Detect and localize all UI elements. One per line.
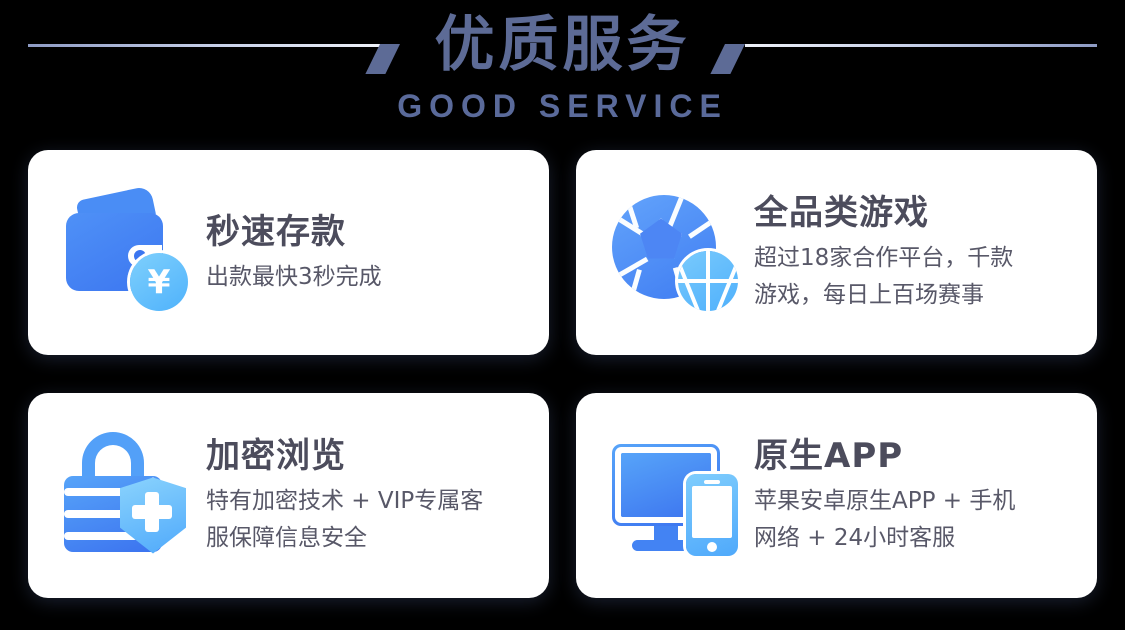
card-text-block: 加密浏览 特有加密技术 + VIP专属客 服保障信息安全 (206, 434, 535, 557)
page-header: 优质服务 GOOD SERVICE (0, 0, 1125, 148)
card-text-block: 原生APP 苹果安卓原生APP + 手机 网络 + 24小时客服 (754, 434, 1083, 557)
card-text-block: 秒速存款 出款最快3秒完成 (206, 210, 535, 296)
card-description-line: 出款最快3秒完成 (206, 259, 535, 296)
yen-symbol: ¥ (130, 253, 188, 311)
card-description: 超过18家合作平台，千款 游戏，每日上百场赛事 (754, 240, 1083, 314)
card-description-line: 特有加密技术 + VIP专属客 (206, 483, 535, 520)
wallet-yen-coin-icon: ¥ (62, 187, 194, 319)
service-card-games[interactable]: 全品类游戏 超过18家合作平台，千款 游戏，每日上百场赛事 (576, 150, 1097, 355)
service-card-grid: ¥ 秒速存款 出款最快3秒完成 (28, 150, 1097, 598)
card-title: 加密浏览 (206, 434, 535, 478)
card-title: 秒速存款 (206, 210, 535, 254)
monitor-phone-icon (610, 430, 742, 562)
phone-speaker-shape (704, 480, 720, 484)
service-card-encryption[interactable]: 加密浏览 特有加密技术 + VIP专属客 服保障信息安全 (28, 393, 549, 598)
card-title: 全品类游戏 (754, 191, 1083, 235)
lock-shield-icon (62, 430, 194, 562)
soccer-basketball-icon (610, 187, 742, 319)
card-description-line: 网络 + 24小时客服 (754, 520, 1083, 557)
service-card-native-app[interactable]: 原生APP 苹果安卓原生APP + 手机 网络 + 24小时客服 (576, 393, 1097, 598)
card-description-line: 服保障信息安全 (206, 520, 535, 557)
basketball-shape (678, 251, 738, 311)
card-description-line: 苹果安卓原生APP + 手机 (754, 483, 1083, 520)
service-card-deposit[interactable]: ¥ 秒速存款 出款最快3秒完成 (28, 150, 549, 355)
card-description: 特有加密技术 + VIP专属客 服保障信息安全 (206, 483, 535, 557)
shield-cross-icon (132, 505, 172, 519)
phone-screen-shape (692, 486, 732, 538)
card-text-block: 全品类游戏 超过18家合作平台，千款 游戏，每日上百场赛事 (754, 191, 1083, 314)
card-title: 原生APP (754, 434, 1083, 478)
card-description-line: 游戏，每日上百场赛事 (754, 277, 1083, 314)
phone-home-button-shape (707, 542, 717, 552)
page-title: 优质服务 (0, 6, 1125, 84)
card-description-line: 超过18家合作平台，千款 (754, 240, 1083, 277)
card-description: 苹果安卓原生APP + 手机 网络 + 24小时客服 (754, 483, 1083, 557)
card-description: 出款最快3秒完成 (206, 259, 535, 296)
page-subtitle: GOOD SERVICE (0, 86, 1125, 126)
title-block: 优质服务 GOOD SERVICE (0, 6, 1125, 126)
